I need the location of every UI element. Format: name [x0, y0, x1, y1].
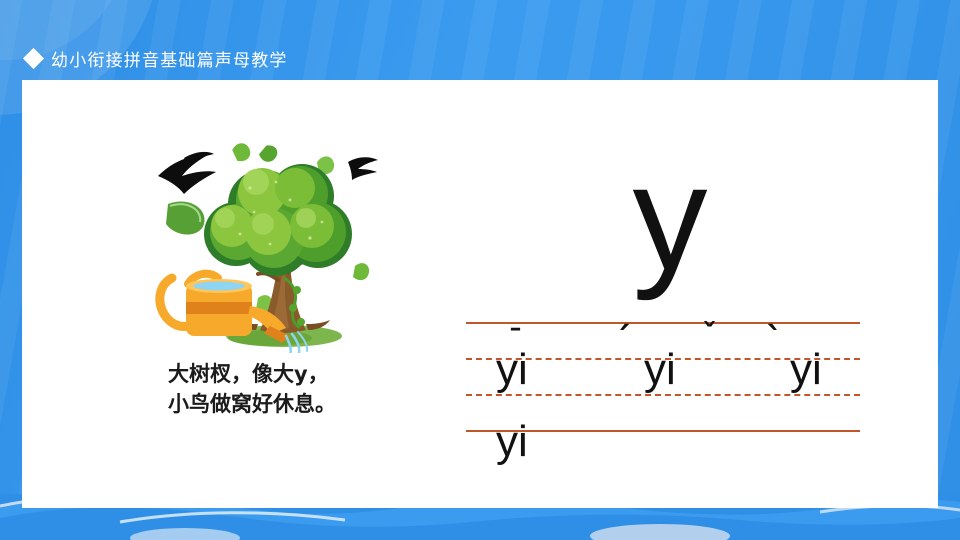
- tone-mark-third: ˇ: [702, 318, 717, 353]
- grid-line-lower-dashed: [466, 394, 860, 396]
- grid-line-top-solid: [466, 322, 860, 324]
- caption-line-2: 小鸟做窝好休息。: [168, 390, 448, 420]
- caption-text: 大树杈，像大y， 小鸟做窝好休息。: [168, 360, 448, 420]
- pinyin-syllable-2: yi: [644, 348, 676, 392]
- caption-line-1: 大树杈，像大y，: [168, 360, 448, 390]
- tree-watering-can-swallows-illustration: [150, 138, 386, 353]
- pinyin-syllable-3: yi: [790, 348, 822, 392]
- tone-mark-fourth: ˋ: [766, 320, 783, 360]
- pinyin-syllable-4: yi: [496, 420, 528, 464]
- slide-root: 幼小衔接拼音基础篇声母教学: [0, 0, 960, 540]
- slide-header: 幼小衔接拼音基础篇声母教学: [26, 46, 288, 71]
- page-title: 幼小衔接拼音基础篇声母教学: [51, 46, 288, 71]
- big-letter-display: y: [560, 142, 780, 292]
- diamond-icon: [23, 48, 44, 69]
- tone-mark-second: ˊ: [614, 320, 631, 360]
- pinyin-syllable-1: yi: [496, 348, 528, 392]
- swallow-icon: [158, 152, 216, 194]
- pinyin-four-line-grid: ˉ ˊ ˇ ˋ yi yi yi yi: [466, 322, 860, 430]
- swallow-icon-small: [348, 157, 378, 180]
